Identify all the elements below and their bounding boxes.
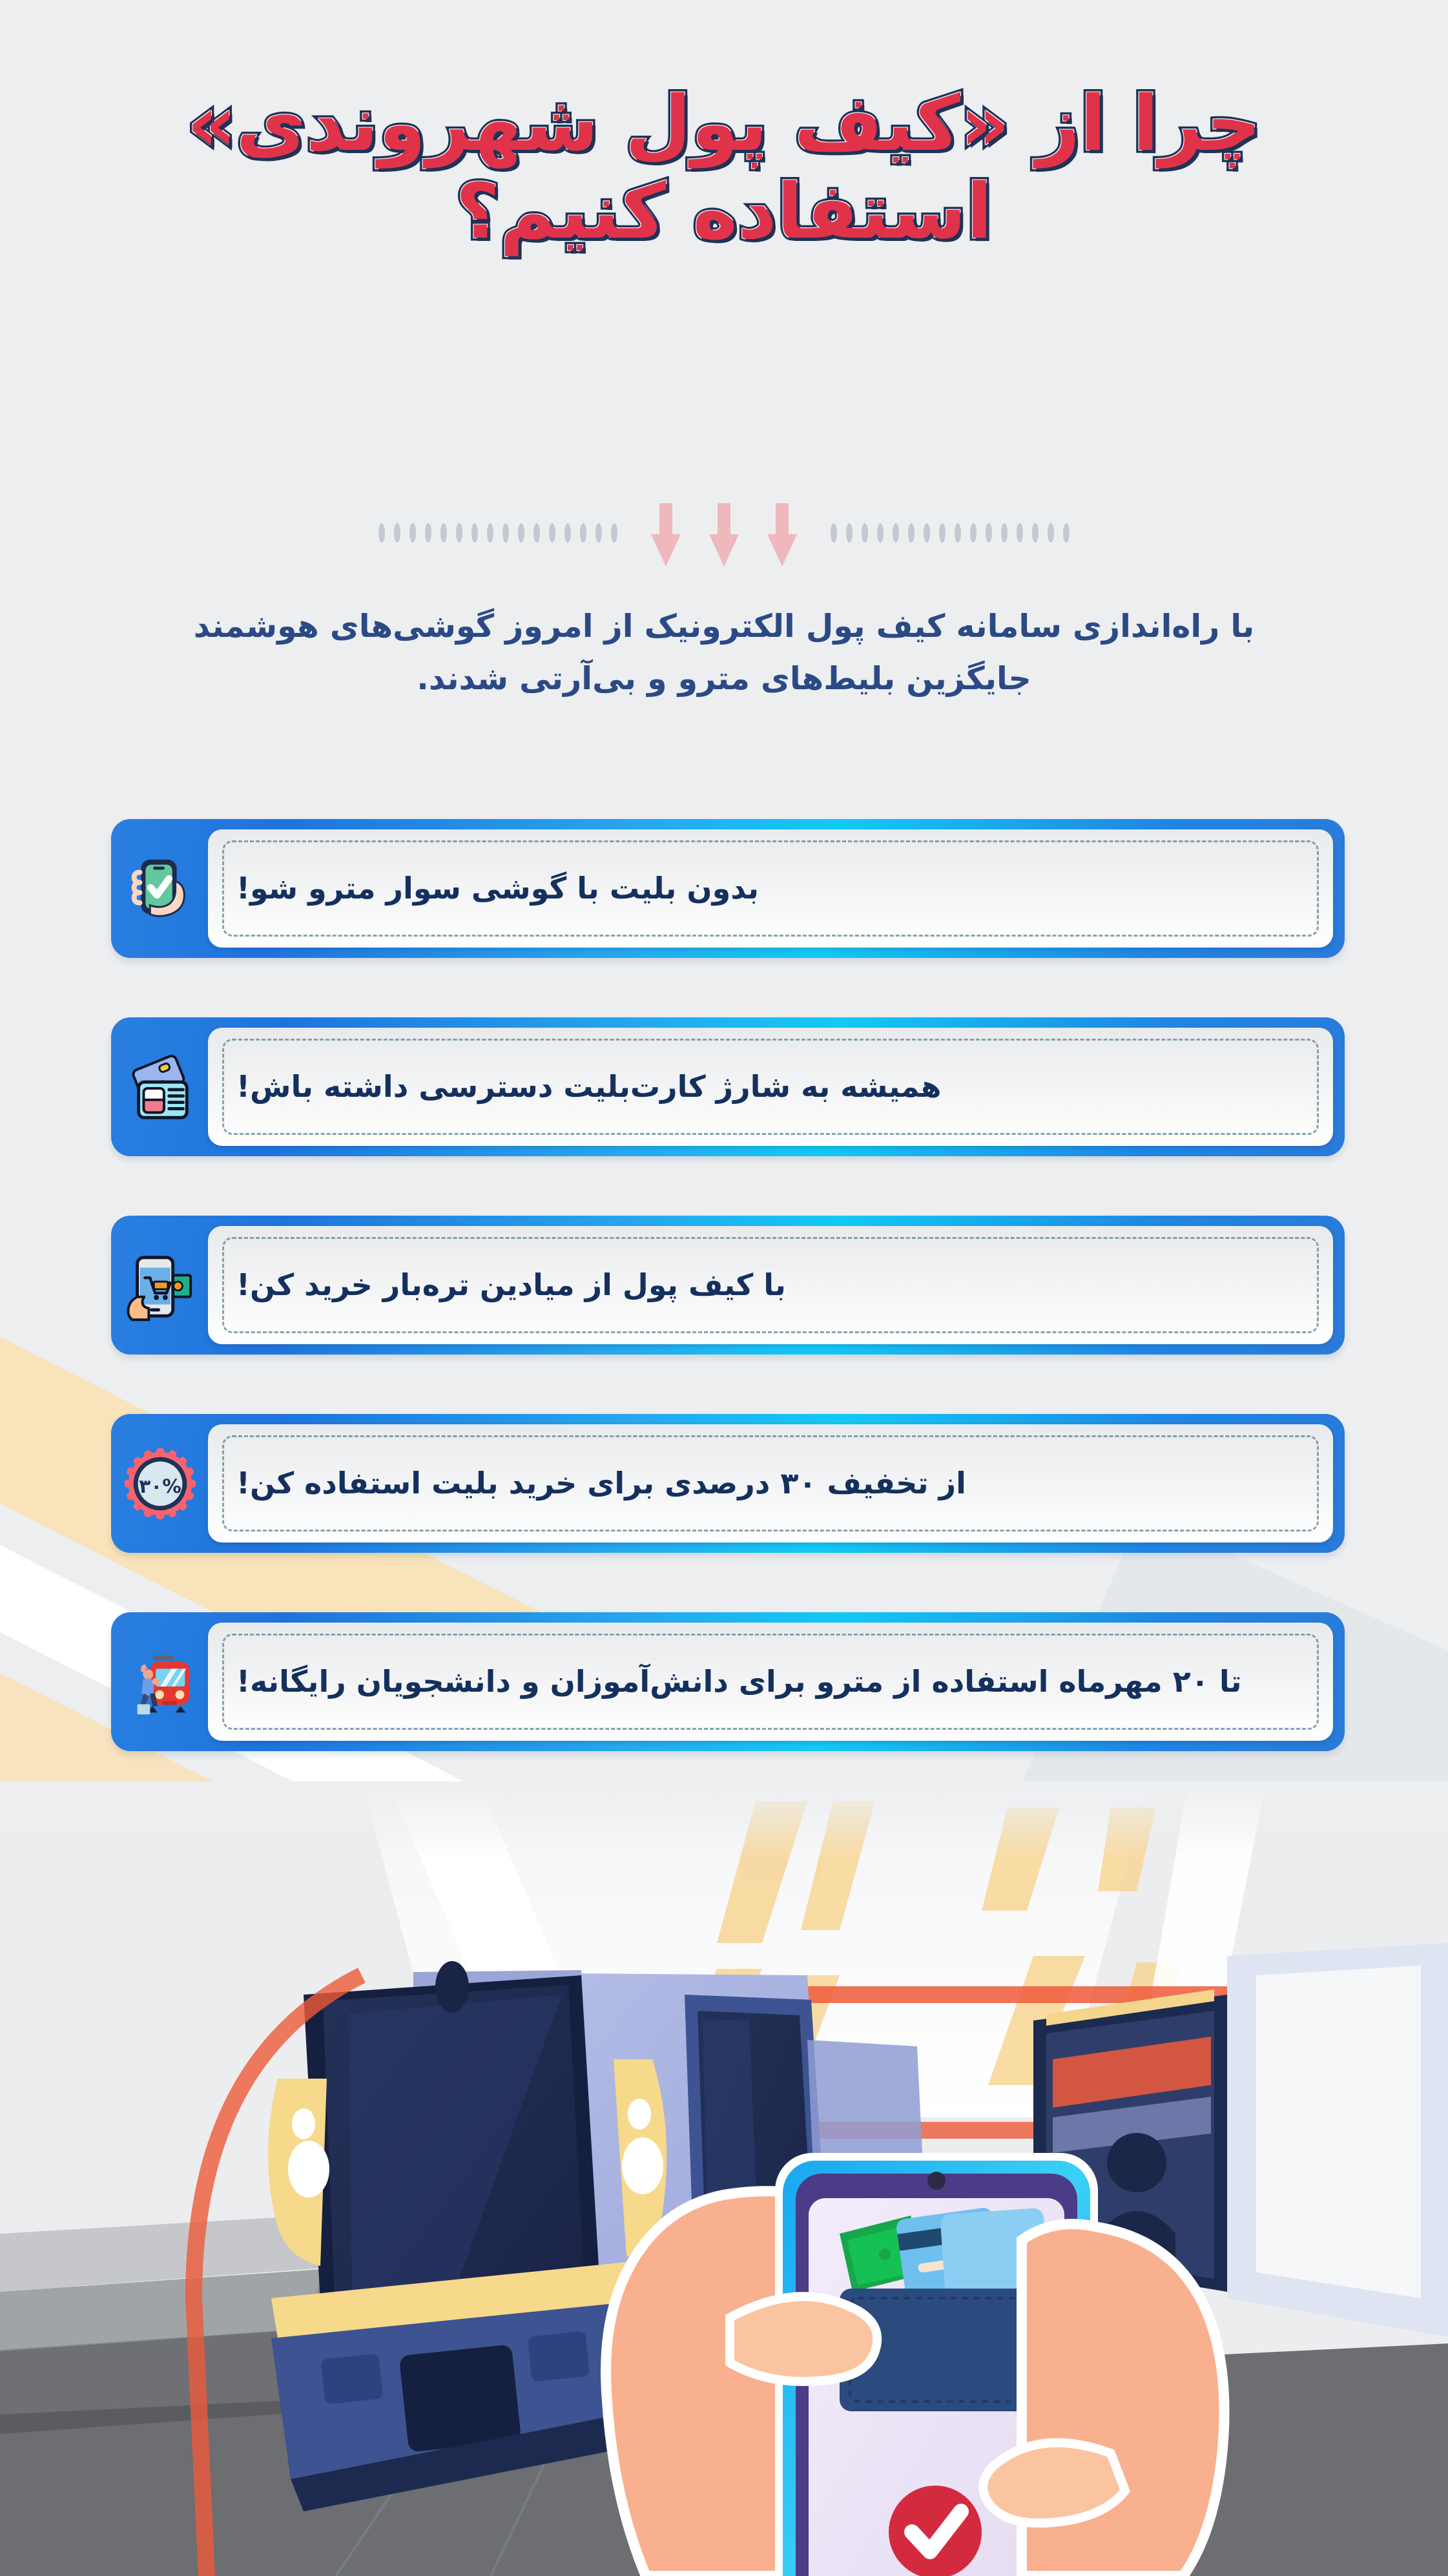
benefit-card-1[interactable]: بدون بلیت با گوشی سوار مترو شو! xyxy=(111,819,1345,958)
phone-check-hand-icon xyxy=(120,849,200,929)
divider-dot xyxy=(893,523,899,543)
tram-student-icon xyxy=(120,1642,200,1722)
divider-dot xyxy=(595,523,602,543)
benefit-text: بدون بلیت با گوشی سوار مترو شو! xyxy=(236,868,759,908)
divider-dot xyxy=(1001,523,1008,543)
divider-dot xyxy=(549,523,555,543)
benefit-card-5[interactable]: تا ۲۰ مهرماه استفاده از مترو برای دانش‌آ… xyxy=(111,1612,1345,1751)
metro-scene xyxy=(0,1781,1448,2576)
arrow-down-icon xyxy=(709,503,739,563)
benefit-card-panel: همیشه به شارژ کارت‌بلیت دسترسی داشته باش… xyxy=(208,1028,1333,1146)
transit-card-ticket-icon xyxy=(120,1047,200,1127)
divider-dot xyxy=(846,523,853,543)
title-line-2: استفاده کنیم؟ xyxy=(0,165,1448,258)
divider-dot xyxy=(831,523,837,543)
arrow-down-icon xyxy=(651,503,681,563)
benefits-list: بدون بلیت با گوشی سوار مترو شو! همیشه به… xyxy=(111,819,1345,1811)
phone-cart-cash-icon xyxy=(120,1245,200,1325)
divider-dot xyxy=(378,523,385,543)
divider-dot xyxy=(611,523,617,543)
divider-dot xyxy=(986,523,992,543)
page-title: چرا از «کیف پول شهروندی» استفاده کنیم؟ xyxy=(0,78,1448,258)
benefit-text: همیشه به شارژ کارت‌بلیت دسترسی داشته باش… xyxy=(236,1066,942,1106)
hero-illustration xyxy=(0,1781,1448,2576)
divider-dot xyxy=(939,523,946,543)
discount-badge-icon: ۳۰% xyxy=(120,1444,200,1524)
divider-dot xyxy=(456,523,462,543)
benefit-card-4[interactable]: از تخفیف ۳۰ درصدی برای خرید بلیت استفاده… xyxy=(111,1414,1345,1553)
right-thumb xyxy=(983,2443,1125,2523)
divider-dot xyxy=(564,523,571,543)
divider-dot xyxy=(533,523,540,543)
benefit-card-3[interactable]: با کیف پول از میادین تره‌بار خرید کن! xyxy=(111,1216,1345,1355)
divider-dot xyxy=(409,523,416,543)
check-badge-icon xyxy=(889,2486,982,2576)
infographic-root: چرا از «کیف پول شهروندی» استفاده کنیم؟ xyxy=(0,0,1448,2576)
benefit-text: با کیف پول از میادین تره‌بار خرید کن! xyxy=(236,1265,786,1305)
intro-line-2: جایگزین بلیط‌های مترو و بی‌آرتی شدند. xyxy=(110,653,1338,705)
discount-badge-label: ۳۰% xyxy=(139,1475,181,1497)
divider-dot xyxy=(1032,523,1039,543)
divider-dot xyxy=(862,523,868,543)
divider-dot xyxy=(908,523,915,543)
divider-dot xyxy=(877,523,884,543)
divider-dot xyxy=(580,523,586,543)
benefit-card-panel: از تخفیف ۳۰ درصدی برای خرید بلیت استفاده… xyxy=(208,1424,1333,1542)
divider-dot xyxy=(955,523,961,543)
intro-line-1: با راه‌اندازی سامانه کیف پول الکترونیک ا… xyxy=(110,601,1338,653)
section-divider xyxy=(0,497,1448,568)
intro-paragraph: با راه‌اندازی سامانه کیف پول الکترونیک ا… xyxy=(110,601,1338,705)
divider-arrows xyxy=(634,503,814,563)
benefit-card-panel: با کیف پول از میادین تره‌بار خرید کن! xyxy=(208,1226,1333,1344)
divider-dot xyxy=(425,523,431,543)
benefit-text: از تخفیف ۳۰ درصدی برای خرید بلیت استفاده… xyxy=(236,1463,966,1503)
divider-dot xyxy=(502,523,509,543)
divider-dot xyxy=(1017,523,1023,543)
divider-dots-left xyxy=(378,523,617,543)
divider-dot xyxy=(970,523,977,543)
divider-dot xyxy=(394,523,400,543)
benefit-card-2[interactable]: همیشه به شارژ کارت‌بلیت دسترسی داشته باش… xyxy=(111,1017,1345,1156)
divider-dot xyxy=(471,523,478,543)
arrow-down-icon xyxy=(767,503,797,563)
benefit-text: تا ۲۰ مهرماه استفاده از مترو برای دانش‌آ… xyxy=(236,1661,1241,1701)
left-thumb xyxy=(730,2296,877,2382)
title-line-1: چرا از «کیف پول شهروندی» xyxy=(0,78,1448,171)
divider-dot xyxy=(1048,523,1054,543)
benefit-card-panel: بدون بلیت با گوشی سوار مترو شو! xyxy=(208,829,1333,948)
divider-dot xyxy=(924,523,930,543)
divider-dot xyxy=(487,523,493,543)
divider-dot xyxy=(440,523,447,543)
divider-dot xyxy=(1063,523,1070,543)
benefit-card-panel: تا ۲۰ مهرماه استفاده از مترو برای دانش‌آ… xyxy=(208,1623,1333,1741)
divider-dot xyxy=(518,523,524,543)
divider-dots-right xyxy=(831,523,1070,543)
